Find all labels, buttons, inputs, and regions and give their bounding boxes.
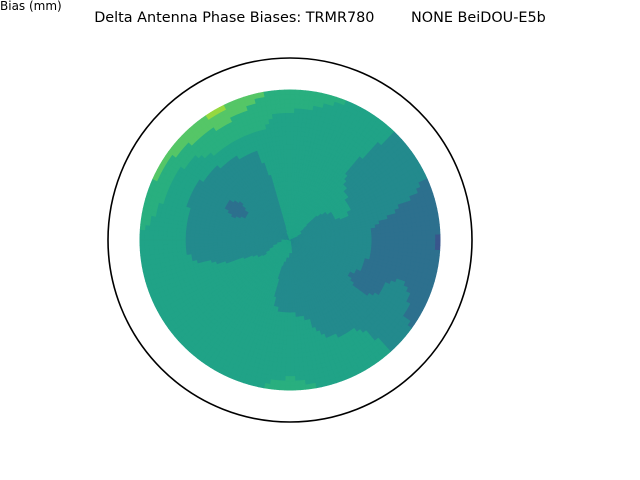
contour-fill-layer xyxy=(140,90,440,390)
colorbar-axis-label: Bias (mm) xyxy=(0,0,62,12)
polar-contour-figure: Delta Antenna Phase Biases: TRMR780 NONE… xyxy=(0,0,640,480)
polar-plot-canvas xyxy=(0,0,640,480)
